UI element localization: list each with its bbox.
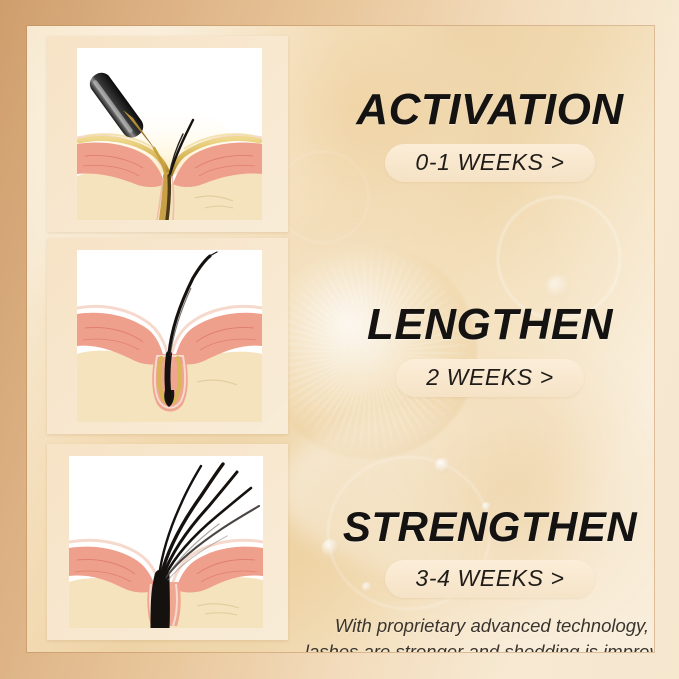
illustration-canvas-activation <box>77 48 262 220</box>
poster-root: ACTIVATION 0-1 WEEKS > LENGTHEN 2 WEEKS … <box>0 0 679 679</box>
step-title-lengthen: LENGTHEN <box>314 303 654 348</box>
step-block-lengthen: LENGTHEN 2 WEEKS > <box>314 303 654 397</box>
footer-claim-line-1: With proprietary advanced technology, <box>302 613 654 639</box>
applicator-wand-serum-on-follicle-icon <box>77 48 262 220</box>
multiple-thick-lashes-from-follicle-icon <box>69 456 263 628</box>
illustration-canvas-strengthen <box>69 456 263 628</box>
footer-claim-text: With proprietary advanced technology, la… <box>302 613 654 652</box>
illustration-panel-strengthen <box>47 444 288 640</box>
illustration-canvas-lengthen <box>77 250 262 422</box>
step-duration-pill-activation[interactable]: 0-1 WEEKS > <box>385 144 594 182</box>
illustration-panel-activation <box>47 36 288 232</box>
step-title-activation: ACTIVATION <box>314 88 654 133</box>
serum-background-stage: ACTIVATION 0-1 WEEKS > LENGTHEN 2 WEEKS … <box>27 26 654 652</box>
single-lash-growing-from-follicle-icon <box>77 250 262 422</box>
step-block-activation: ACTIVATION 0-1 WEEKS > <box>314 88 654 182</box>
step-block-strengthen: STRENGTHEN 3-4 WEEKS > <box>314 506 654 598</box>
step-title-strengthen: STRENGTHEN <box>314 506 654 549</box>
footer-claim-line-2: lashes are stronger and shedding is impr… <box>302 639 654 652</box>
step-duration-pill-strengthen[interactable]: 3-4 WEEKS > <box>385 560 594 598</box>
step-duration-pill-lengthen[interactable]: 2 WEEKS > <box>396 359 583 397</box>
illustration-panel-lengthen <box>47 238 288 434</box>
